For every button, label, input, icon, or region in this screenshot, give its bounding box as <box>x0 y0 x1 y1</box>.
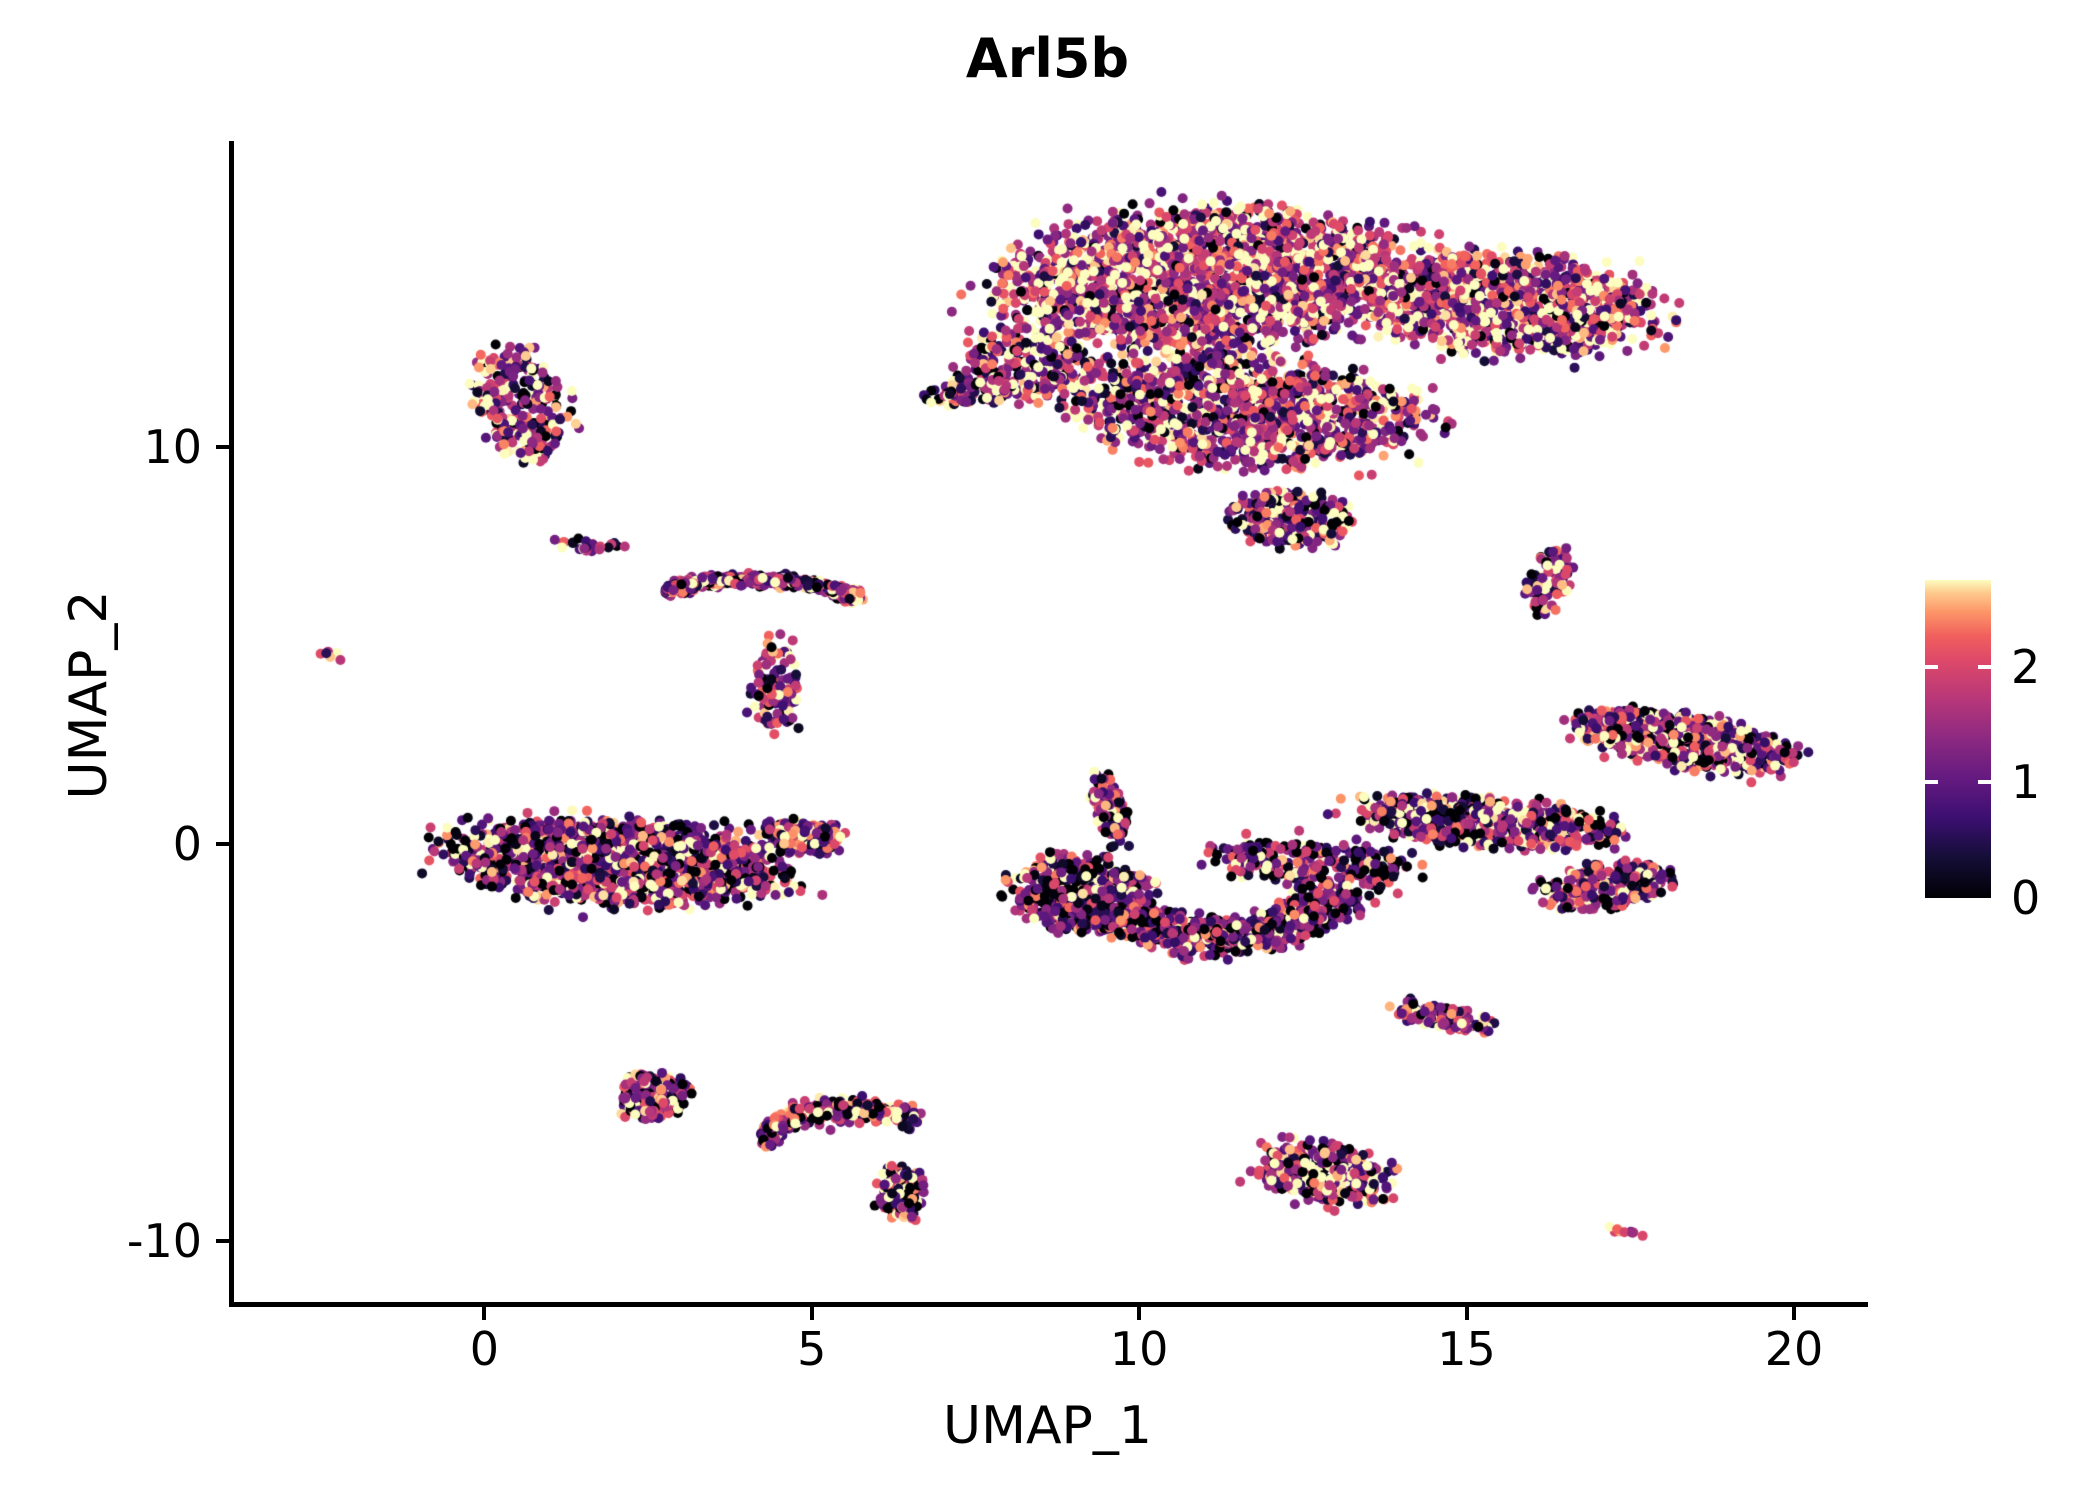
page-title: Arl5b <box>229 28 1866 90</box>
x-tick-mark <box>1137 1307 1141 1320</box>
colorbar-tick-label: 0 <box>2011 871 2040 925</box>
x-axis-label: UMAP_1 <box>229 1396 1866 1456</box>
colorbar-tick-label: 1 <box>2011 755 2040 809</box>
x-tick-label: 5 <box>742 1322 882 1376</box>
colorbar-tick-mark <box>1978 780 1991 784</box>
umap-feature-plot-figure: Arl5b 05101520 -10010 UMAP_1 UMAP_2 012 <box>0 0 2100 1500</box>
x-tick-label: 10 <box>1069 1322 1209 1376</box>
x-tick-label: 15 <box>1397 1322 1537 1376</box>
scatter-points-canvas <box>229 141 1866 1305</box>
y-tick-label: -10 <box>0 1214 202 1268</box>
y-tick-mark <box>216 1239 229 1243</box>
colorbar-tick-mark <box>1978 665 1991 669</box>
x-tick-mark <box>810 1307 814 1320</box>
x-axis-spine <box>229 1302 1868 1307</box>
colorbar-tick-mark <box>1925 780 1938 784</box>
y-tick-mark <box>216 842 229 846</box>
plot-area <box>229 141 1866 1305</box>
y-axis-label: UMAP_2 <box>59 315 119 1075</box>
y-tick-mark <box>216 445 229 449</box>
colorbar-tick-label: 2 <box>2011 640 2040 694</box>
colorbar: 012 <box>1925 580 1991 898</box>
colorbar-tick-mark <box>1925 665 1938 669</box>
y-axis-spine <box>229 141 234 1307</box>
x-tick-mark <box>1792 1307 1796 1320</box>
x-tick-mark <box>482 1307 486 1320</box>
x-tick-mark <box>1465 1307 1469 1320</box>
x-tick-label: 20 <box>1724 1322 1864 1376</box>
colorbar-gradient <box>1925 580 1991 898</box>
x-tick-label: 0 <box>414 1322 554 1376</box>
